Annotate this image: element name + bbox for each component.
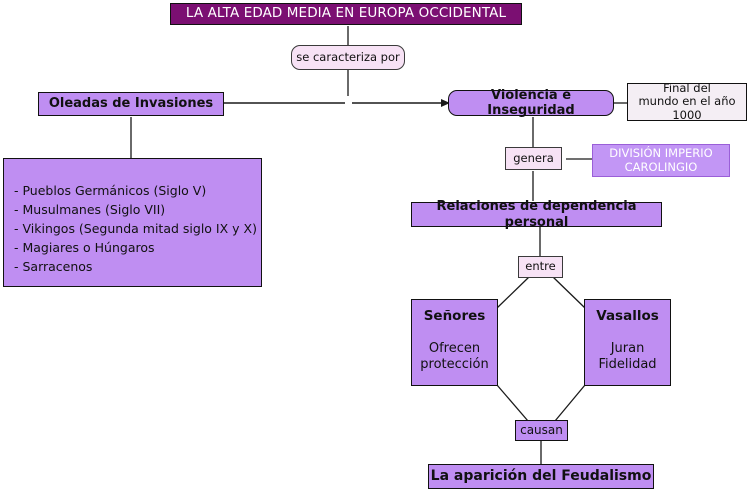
vasallos-body-line-2: Fidelidad [598,357,656,373]
link-label-entre[interactable]: entre [518,256,563,278]
senores-body-line-2: protección [420,357,488,373]
node-division-imperio-carolingio[interactable]: DIVISIÓN IMPERIO CAROLINGIO [592,144,730,177]
link-senores-to-causan [497,385,528,421]
list-item: - Musulmanes (Siglo VII) [14,200,261,219]
link-vasallos-to-causan [555,385,585,421]
division-line-2: CAROLINGIO [625,161,698,175]
final-del-mundo-line-2: mundo en el año 1000 [628,95,746,122]
senores-heading: Señores [424,309,486,325]
node-vasallos[interactable]: Vasallos Juran Fidelidad [584,299,671,386]
list-item: - Vikingos (Segunda mitad siglo IX y X) [14,219,261,238]
node-invasiones-list[interactable]: - Pueblos Germánicos (Siglo V) - Musulma… [3,158,262,287]
list-item: - Pueblos Germánicos (Siglo V) [14,181,261,200]
list-item: - Magiares o Húngaros [14,238,261,257]
concept-map-canvas: LA ALTA EDAD MEDIA EN EUROPA OCCIDENTAL … [0,0,750,492]
node-senores[interactable]: Señores Ofrecen protección [411,299,498,386]
node-aparicion-del-feudalismo[interactable]: La aparición del Feudalismo [428,464,654,489]
node-violencia-e-inseguridad[interactable]: Violencia e Inseguridad [448,90,614,116]
division-line-1: DIVISIÓN IMPERIO [609,147,712,161]
node-final-del-mundo[interactable]: Final del mundo en el año 1000 [627,83,747,121]
senores-body-line-1: Ofrecen [420,341,488,357]
node-oleadas-de-invasiones[interactable]: Oleadas de Invasiones [38,92,224,116]
link-label-genera[interactable]: genera [505,147,562,170]
link-entre-to-vasallos [553,277,585,308]
link-entre-to-senores [497,277,529,308]
link-label-se-caracteriza-por[interactable]: se caracteriza por [291,45,405,70]
link-label-causan[interactable]: causan [515,420,568,441]
node-relaciones-dependencia-personal[interactable]: Relaciones de dependencia personal [411,202,662,227]
vasallos-body-line-1: Juran [598,341,656,357]
vasallos-heading: Vasallos [596,309,659,325]
node-root-title[interactable]: LA ALTA EDAD MEDIA EN EUROPA OCCIDENTAL [170,3,522,25]
list-item: - Sarracenos [14,257,261,276]
final-del-mundo-line-1: Final del [663,82,711,96]
